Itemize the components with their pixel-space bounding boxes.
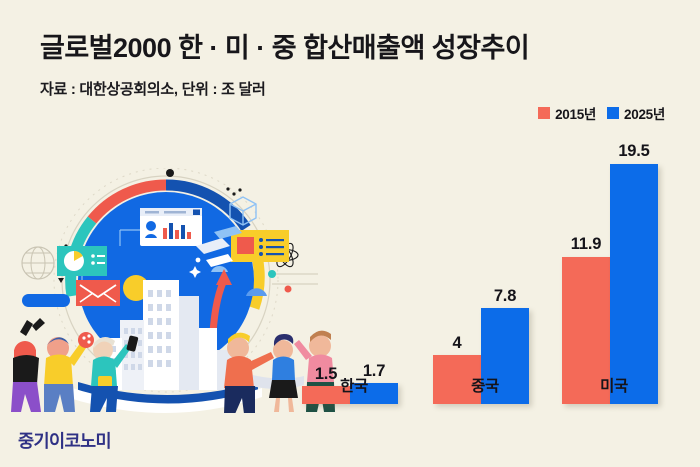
bar-chart: 1.5 1.7 한국 4 7.8 (296, 130, 686, 450)
bars-china: 4 7.8 (433, 164, 529, 404)
bar-wrap-china-2025: 7.8 (481, 164, 529, 404)
legend-item-2015: 2015년 (538, 103, 596, 123)
bar-wrap-china-2015: 4 (433, 164, 481, 404)
category-label-china: 중국 (433, 374, 537, 396)
bars-korea: 1.5 1.7 (302, 164, 398, 404)
chart-legend: 2015년 2025년 (538, 103, 665, 123)
category-label-usa: 미국 (562, 374, 666, 396)
legend-swatch-2025 (607, 107, 619, 119)
page-title: 글로벌2000 한 · 미 · 중 합산매출액 성장추이 (40, 26, 529, 65)
bar-usa-2025[interactable] (610, 164, 658, 404)
bars-usa: 11.9 19.5 (562, 164, 658, 404)
bar-value-china-2015: 4 (433, 334, 481, 353)
bar-wrap-korea-2025: 1.7 (350, 164, 398, 404)
bar-value-china-2025: 7.8 (481, 287, 529, 306)
infographic-root: 글로벌2000 한 · 미 · 중 합산매출액 성장추이 자료 : 대한상공회의… (0, 0, 700, 467)
bar-group-korea: 1.5 1.7 한국 (302, 164, 406, 404)
source-subtitle: 자료 : 대한상공회의소, 단위 : 조 달러 (40, 78, 265, 99)
bar-wrap-usa-2025: 19.5 (610, 164, 658, 404)
legend-label-2025: 2025년 (624, 103, 665, 123)
bar-wrap-usa-2015: 11.9 (562, 164, 610, 404)
bar-value-usa-2025: 19.5 (610, 142, 658, 161)
bar-group-china: 4 7.8 중국 (433, 164, 537, 404)
legend-swatch-2015 (538, 107, 550, 119)
business-growth-illustration (0, 168, 340, 413)
legend-item-2025: 2025년 (607, 103, 665, 123)
legend-label-2015: 2015년 (555, 103, 596, 123)
publisher-logo[interactable]: 중기이코노미 (18, 428, 111, 453)
bar-wrap-korea-2015: 1.5 (302, 164, 350, 404)
bar-group-usa: 11.9 19.5 미국 (562, 164, 666, 404)
category-label-korea: 한국 (302, 374, 406, 396)
bar-value-usa-2015: 11.9 (562, 235, 610, 254)
